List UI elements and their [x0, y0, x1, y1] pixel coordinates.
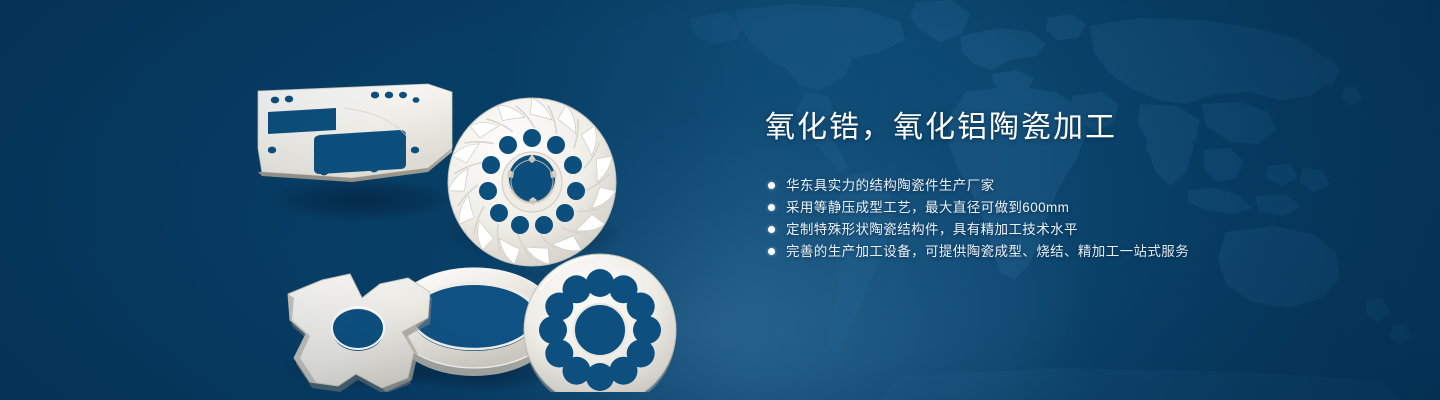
feature-text: 华东具实力的结构陶瓷件生产厂家	[786, 175, 995, 197]
ceramic-perforated-disc	[524, 254, 676, 392]
bullet-icon	[768, 204, 775, 211]
ceramic-products-image	[232, 52, 702, 392]
ceramic-machined-plate	[258, 84, 452, 182]
feature-text: 完善的生产加工设备，可提供陶瓷成型、烧结、精加工一站式服务	[786, 241, 1189, 263]
bullet-icon	[768, 226, 775, 233]
ceramic-products-banner: 氧化锆，氧化铝陶瓷加工 华东具实力的结构陶瓷件生产厂家 采用等静压成型工艺，最大…	[0, 0, 1440, 400]
banner-text-block: 氧化锆，氧化铝陶瓷加工 华东具实力的结构陶瓷件生产厂家 采用等静压成型工艺，最大…	[765, 108, 1385, 263]
feature-text: 定制特殊形状陶瓷结构件，具有精加工技术水平	[786, 219, 1078, 241]
page-title: 氧化锆，氧化铝陶瓷加工	[765, 108, 1385, 149]
feature-list: 华东具实力的结构陶瓷件生产厂家 采用等静压成型工艺，最大直径可做到600mm 定…	[765, 175, 1385, 263]
bullet-icon	[768, 248, 775, 255]
list-item: 采用等静压成型工艺，最大直径可做到600mm	[765, 197, 1385, 219]
bullet-icon	[768, 182, 775, 189]
list-item: 华东具实力的结构陶瓷件生产厂家	[765, 175, 1385, 197]
feature-text: 采用等静压成型工艺，最大直径可做到600mm	[786, 197, 1069, 219]
list-item: 定制特殊形状陶瓷结构件，具有精加工技术水平	[765, 219, 1385, 241]
ceramic-cross-plate	[288, 274, 432, 392]
list-item: 完善的生产加工设备，可提供陶瓷成型、烧结、精加工一站式服务	[765, 241, 1385, 263]
